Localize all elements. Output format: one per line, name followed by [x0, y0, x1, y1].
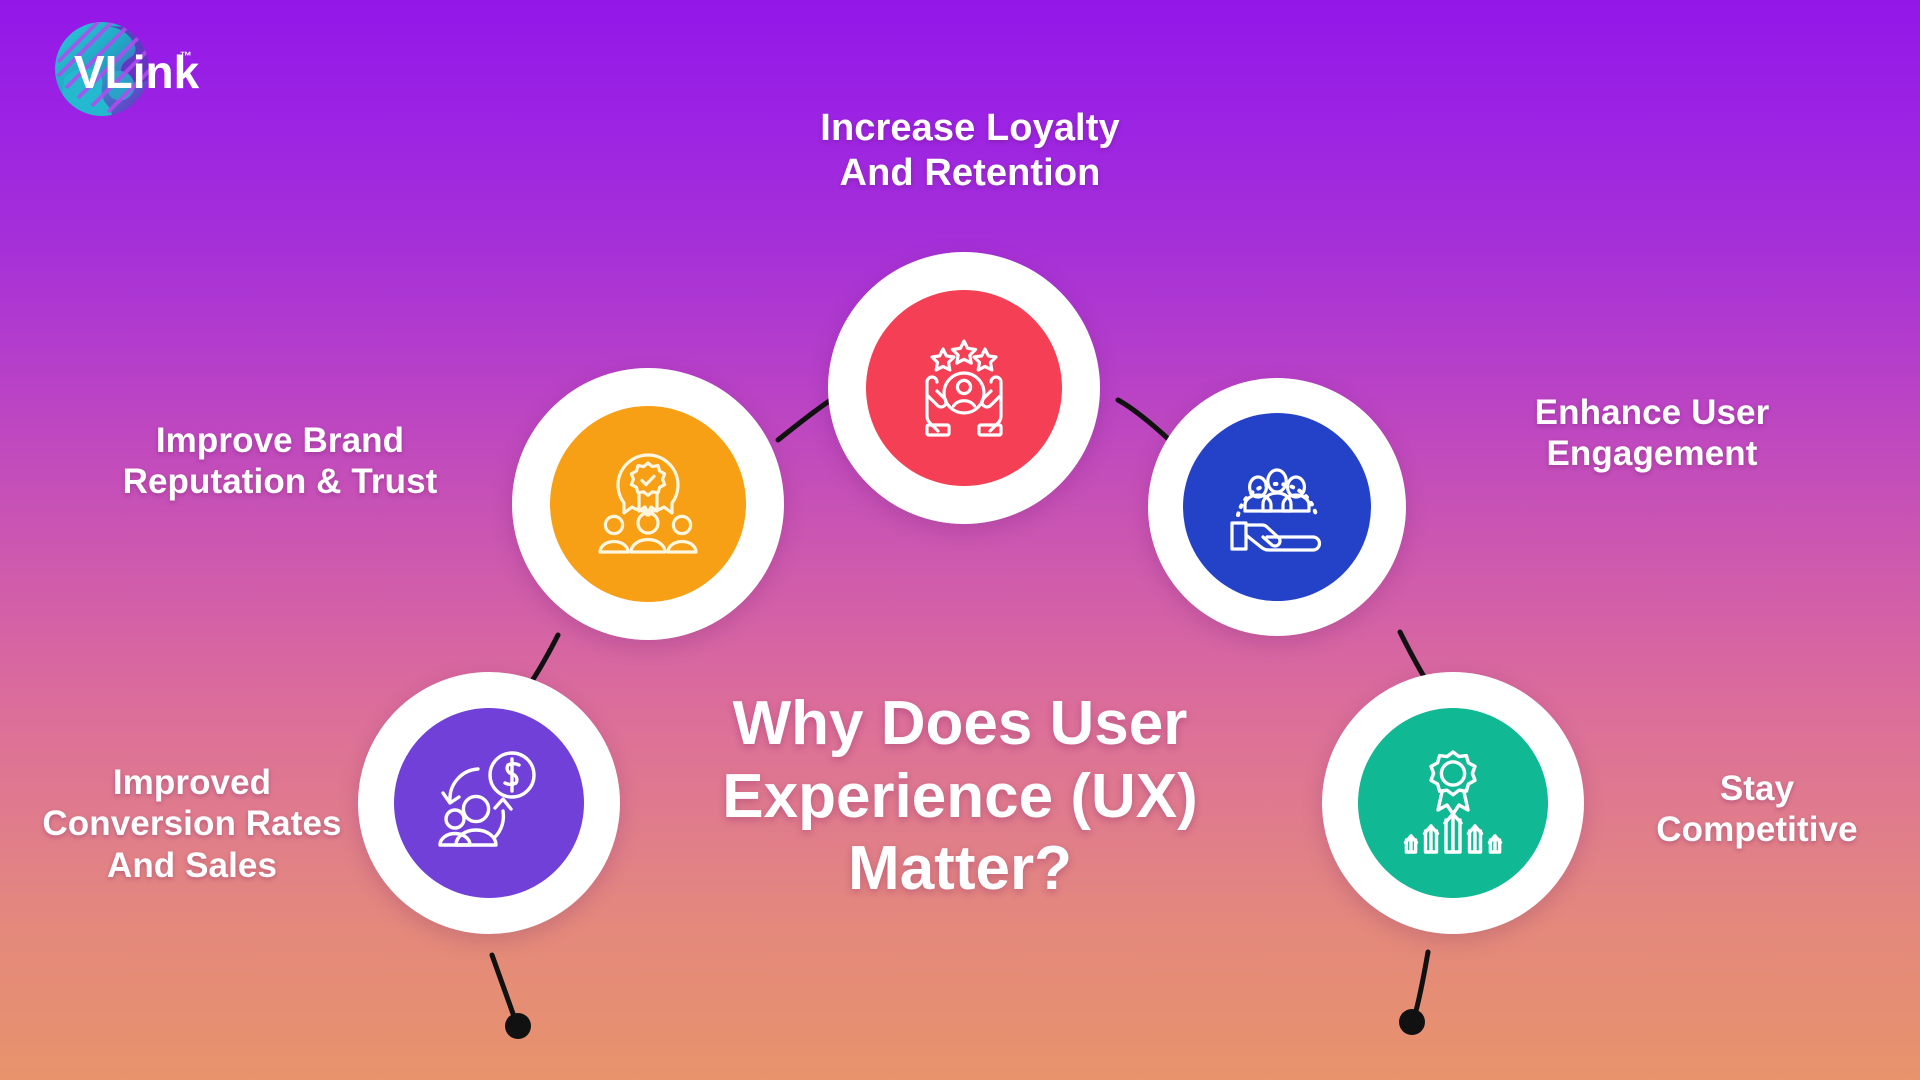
label-competitive-line-1: Stay: [1602, 768, 1912, 809]
label-brand-reputation-line-1: Improve Brand: [70, 420, 490, 461]
page-title: Why Does User Experience (UX) Matter?: [640, 688, 1280, 906]
page-title-line-1: Why Does User: [640, 688, 1280, 761]
hand-holding-group-of-people-icon: [1218, 453, 1336, 561]
hands-holding-user-with-stars-icon: [905, 333, 1023, 443]
customers-with-dollar-coin-cycle-icon: [431, 749, 547, 857]
label-competitive-line-2: Competitive: [1602, 809, 1912, 850]
award-ribbon-with-growth-arrows-icon: [1396, 748, 1510, 858]
node-conversion-disc: [394, 708, 584, 898]
label-engagement-line-2: Engagement: [1452, 433, 1852, 474]
node-competitive[interactable]: [1322, 672, 1584, 934]
award-badge-over-people-icon: [592, 449, 704, 559]
endpoint-dot-right: [1399, 1009, 1425, 1035]
vlink-logo[interactable]: VLink ™: [40, 18, 200, 120]
label-conversion: Improved Conversion Rates And Sales: [12, 762, 372, 886]
label-competitive: Stay Competitive: [1602, 768, 1912, 851]
node-competitive-disc: [1358, 708, 1548, 898]
label-engagement-line-1: Enhance User: [1452, 392, 1852, 433]
node-brand-reputation[interactable]: [512, 368, 784, 640]
label-brand-reputation-line-2: Reputation & Trust: [70, 461, 490, 502]
page-title-line-3: Matter?: [640, 833, 1280, 906]
node-brand-reputation-disc: [550, 406, 746, 602]
trademark-mark: ™: [180, 49, 192, 63]
label-conversion-line-2: Conversion Rates: [12, 803, 372, 844]
label-conversion-line-1: Improved: [12, 762, 372, 803]
label-brand-reputation: Improve Brand Reputation & Trust: [70, 420, 490, 503]
connector-conversion-tail: [492, 955, 516, 1022]
label-loyalty: Increase Loyalty And Retention: [760, 106, 1180, 196]
label-conversion-line-3: And Sales: [12, 845, 372, 886]
node-loyalty[interactable]: [828, 252, 1100, 524]
endpoint-dot-left: [505, 1013, 531, 1039]
globe-icon: VLink ™: [40, 18, 200, 120]
node-engagement-disc: [1183, 413, 1371, 601]
infographic-canvas: VLink ™: [0, 0, 1920, 1080]
node-engagement[interactable]: [1148, 378, 1406, 636]
node-loyalty-disc: [866, 290, 1062, 486]
node-conversion[interactable]: [358, 672, 620, 934]
label-loyalty-line-1: Increase Loyalty: [760, 106, 1180, 151]
page-title-line-2: Experience (UX): [640, 761, 1280, 834]
label-engagement: Enhance User Engagement: [1452, 392, 1852, 475]
connector-competitive-tail: [1414, 952, 1428, 1018]
label-loyalty-line-2: And Retention: [760, 151, 1180, 196]
